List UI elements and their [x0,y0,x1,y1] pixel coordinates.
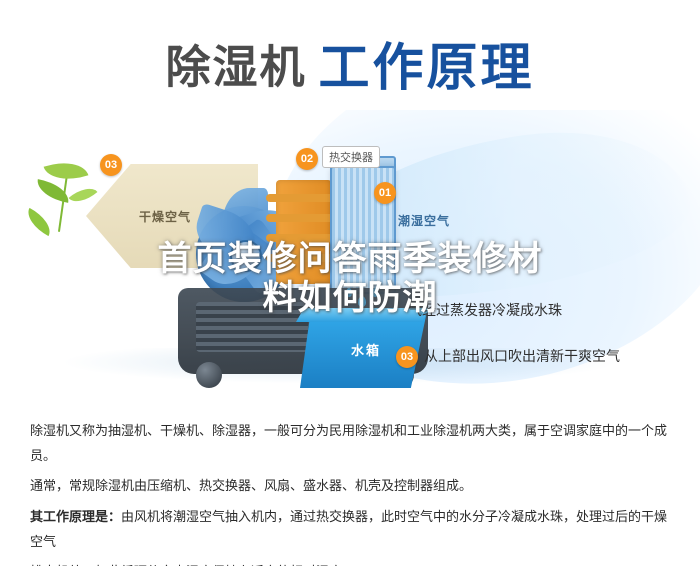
coil-pipe [266,254,340,262]
condenser-coil [276,180,332,284]
water-tank-label: 水箱 [326,340,406,359]
badge-03-dry-air: 03 [100,154,122,176]
coil-pipe [266,214,340,222]
paragraph-3: 其工作原理是：由风机将潮湿空气抽入机内，通过热交换器，此时空气中的水分子冷凝成水… [30,504,674,555]
coil-pipe [266,194,340,202]
water-droplet-icon [346,288,352,297]
coil-pipe [266,234,340,242]
wheel-icon [196,362,222,388]
water-droplet-icon [358,296,366,307]
dehumidifier-diagram: 干燥空气 03 02 热交换器 01 潮湿空气 [0,110,700,405]
diagram-note-outlet: 从上部出风口吹出清新干爽空气 [424,346,620,366]
article-body: 除湿机又称为抽湿机、干燥机、除湿器，一般可分为民用除湿机和工业除湿机两大类，属于… [30,418,674,566]
diagram-note-condensation: 气经过蒸发器冷凝成水珠 [408,300,562,320]
badge-02-heat-exchanger: 02 [296,148,318,170]
paragraph-3-lead: 其工作原理是： [30,509,121,524]
plant-stem [58,174,68,232]
leaf-icon [69,181,98,208]
page-root: 除湿机工作原理 干燥空气 03 02 热交 [0,0,700,566]
fan-center [230,240,262,272]
badge-01-humid-air: 01 [374,182,396,204]
body-grill [196,302,308,352]
humid-air-label: 潮湿空气 [398,212,450,229]
water-droplet-icon [372,288,378,297]
paragraph-1: 除湿机又称为抽湿机、干燥机、除湿器，一般可分为民用除湿机和工业除湿机两大类，属于… [30,418,674,469]
page-title-accent: 工作原理 [319,39,535,98]
page-title: 除湿机工作原理 [0,26,700,100]
heat-exchanger-tag: 热交换器 [322,146,380,168]
badge-03-outlet: 03 [396,346,418,368]
leaf-icon [22,208,56,236]
paragraph-4: 排出机外，如此循环使室内湿度保持在适宜的相对湿度。 [30,559,674,566]
page-title-main: 除湿机 [165,41,306,94]
paragraph-2: 通常，常规除湿机由压缩机、热交换器、风扇、盛水器、机壳及控制器组成。 [30,473,674,498]
paragraph-3-text: 由风机将潮湿空气抽入机内，通过热交换器，此时空气中的水分子冷凝成水珠，处理过后的… [30,509,667,549]
